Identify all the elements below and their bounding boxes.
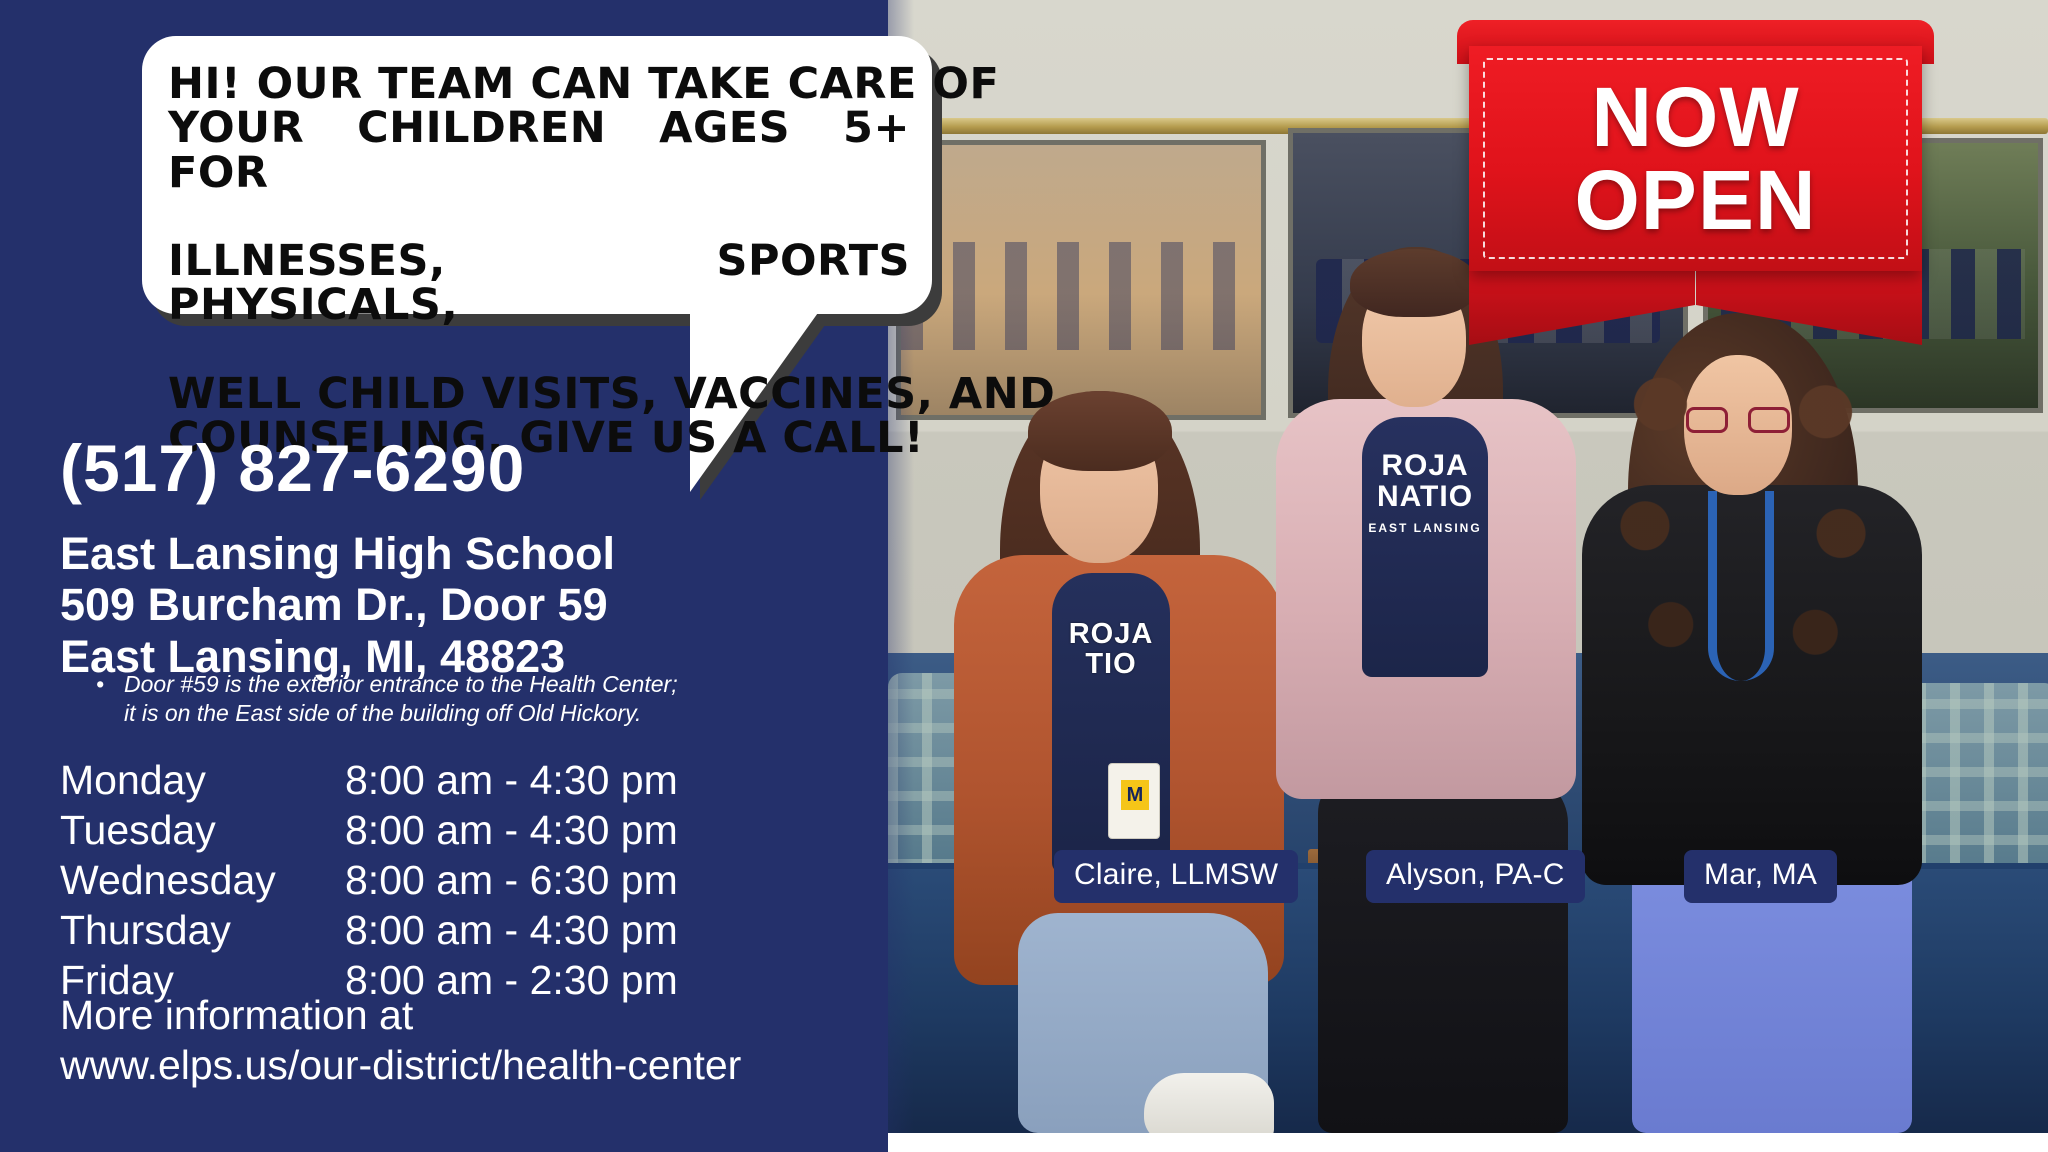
- ribbon-text: NOW OPEN: [1469, 46, 1922, 271]
- bubble-line-1: HI! OUR TEAM CAN TAKE CARE OF: [168, 62, 910, 106]
- shirt-text: ROJA NATIO: [1362, 451, 1488, 512]
- hours-time: 8:00 am - 6:30 pm: [345, 855, 678, 905]
- navy-tshirt: ROJA NATIO EAST LANSING: [1362, 417, 1488, 677]
- name-badge-claire: Claire, LLMSW: [1054, 850, 1298, 903]
- black-pants: [1318, 773, 1568, 1133]
- person-alyson: ROJA NATIO EAST LANSING: [1258, 233, 1588, 1133]
- curly-hair: [1614, 313, 1872, 693]
- hours-day: Thursday: [60, 905, 345, 955]
- person-mar: [1568, 303, 1928, 1133]
- now-open-ribbon: NOW OPEN: [1457, 20, 1934, 320]
- shirt-line1: ROJA: [1381, 449, 1468, 482]
- shirt-line2: NATIO: [1377, 480, 1473, 513]
- hours-time: 8:00 am - 4:30 pm: [345, 905, 678, 955]
- flyer-poster: Photo caption ROJA TIO M: [0, 0, 2048, 1152]
- ribbon-line-1: NOW: [1591, 76, 1799, 158]
- address-line-2: 509 Burcham Dr., Door 59: [60, 579, 615, 630]
- id-badge-card: M: [1108, 763, 1160, 839]
- hours-day: Tuesday: [60, 805, 345, 855]
- hours-time: 8:00 am - 4:30 pm: [345, 805, 678, 855]
- shirt-text: ROJA TIO: [1052, 619, 1170, 680]
- shirt-line2: TIO: [1085, 648, 1136, 680]
- ribbon-line-2: OPEN: [1574, 159, 1816, 241]
- door-note: • Door #59 is the exterior entrance to t…: [96, 670, 678, 728]
- more-info-block: More information at www.elps.us/our-dist…: [60, 990, 741, 1090]
- name-badge-mar: Mar, MA: [1684, 850, 1837, 903]
- bottom-strip: [0, 1133, 2048, 1152]
- shirt-line1: ROJA: [1069, 618, 1154, 650]
- door-note-line-1: Door #59 is the exterior entrance to the…: [124, 670, 678, 699]
- person-claire: ROJA TIO M: [948, 373, 1288, 1133]
- bubble-line-2: YOUR CHILDREN AGES 5+ FOR: [168, 106, 910, 239]
- badge-letter: M: [1121, 780, 1149, 810]
- bubble-line-3: ILLNESSES, SPORTS PHYSICALS,: [168, 239, 910, 372]
- hours-table: Monday 8:00 am - 4:30 pm Tuesday 8:00 am…: [60, 755, 678, 1005]
- hours-time: 8:00 am - 4:30 pm: [345, 755, 678, 805]
- phone-number[interactable]: (517) 827-6290: [60, 430, 525, 506]
- bullet-icon: •: [96, 670, 104, 699]
- hours-row: Thursday 8:00 am - 4:30 pm: [60, 905, 678, 955]
- hours-row: Monday 8:00 am - 4:30 pm: [60, 755, 678, 805]
- shirt-subtext: EAST LANSING: [1362, 521, 1488, 535]
- hours-row: Wednesday 8:00 am - 6:30 pm: [60, 855, 678, 905]
- bottom-strip-navy: [0, 1133, 888, 1152]
- speech-bubble-text: HI! OUR TEAM CAN TAKE CARE OF YOUR CHILD…: [168, 62, 910, 461]
- more-info-label: More information at: [60, 990, 741, 1040]
- bubble-line-4: WELL CHILD VISITS, VACCINES, AND: [168, 372, 910, 416]
- sneaker: [1144, 1073, 1274, 1133]
- website-url[interactable]: www.elps.us/our-district/health-center: [60, 1040, 741, 1090]
- speech-bubble: HI! OUR TEAM CAN TAKE CARE OF YOUR CHILD…: [142, 36, 932, 314]
- address-block: East Lansing High School 509 Burcham Dr.…: [60, 528, 615, 682]
- hours-day: Wednesday: [60, 855, 345, 905]
- address-line-1: East Lansing High School: [60, 528, 615, 579]
- hours-row: Tuesday 8:00 am - 4:30 pm: [60, 805, 678, 855]
- name-badge-alyson: Alyson, PA-C: [1366, 850, 1585, 903]
- hours-day: Monday: [60, 755, 345, 805]
- door-note-line-2: it is on the East side of the building o…: [124, 699, 678, 728]
